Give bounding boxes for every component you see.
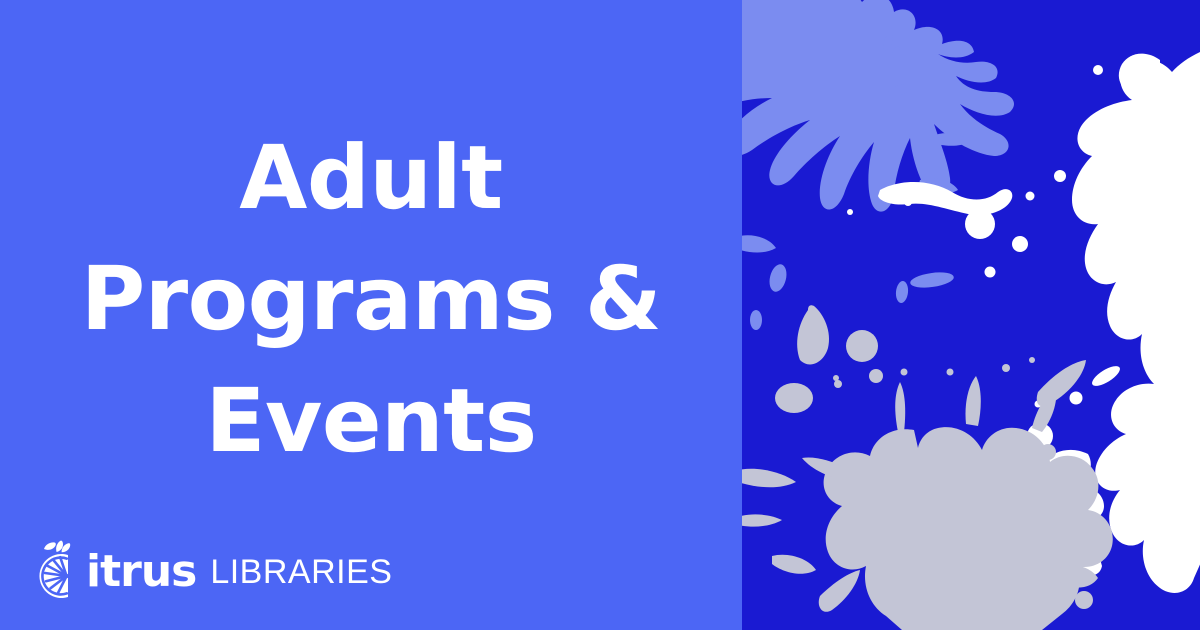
logo-wordmark-citrus: itrus bbox=[86, 550, 196, 594]
page-title: Adult Programs & Events bbox=[0, 117, 742, 481]
promotional-banner: Adult Programs & Events bbox=[0, 0, 1200, 630]
citrus-libraries-logo[interactable]: itrus LIBRARIES bbox=[30, 540, 392, 600]
paint-splatter-illustration bbox=[742, 0, 1200, 630]
left-content-panel: Adult Programs & Events bbox=[0, 0, 742, 630]
right-artwork-panel bbox=[742, 0, 1200, 630]
logo-wordmark-libraries: LIBRARIES bbox=[210, 555, 392, 589]
citrus-slice-icon bbox=[30, 540, 92, 600]
